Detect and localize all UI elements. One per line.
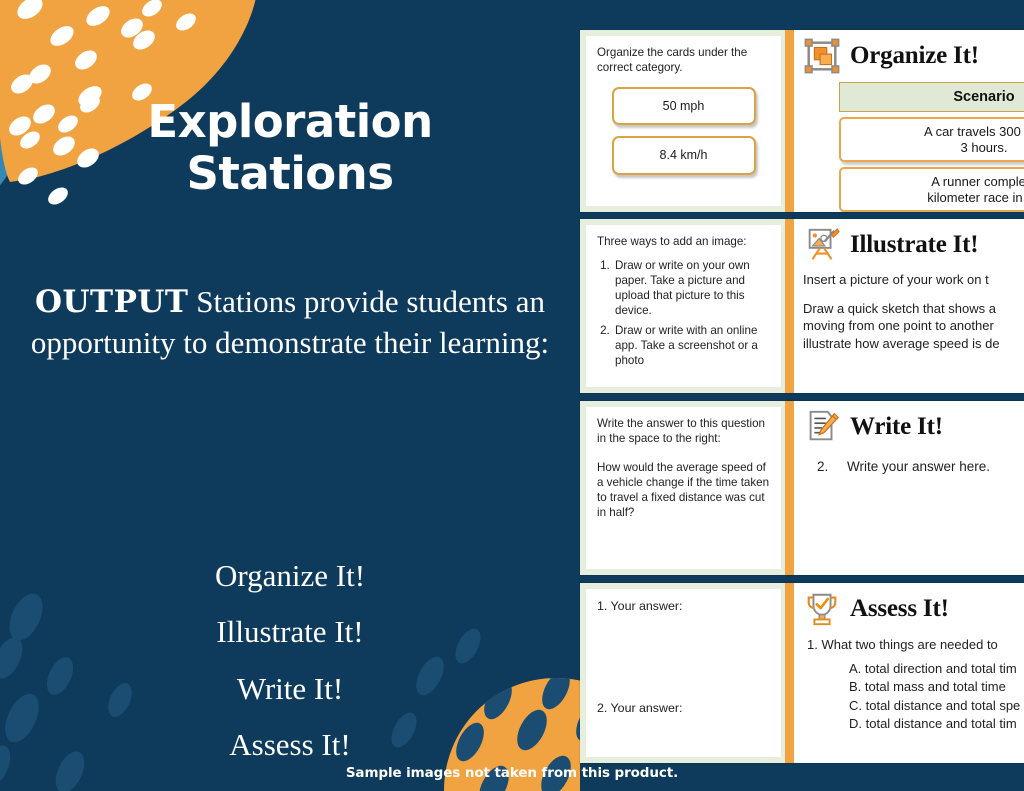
station-list: Organize It! Illustrate It! Write It! As… (20, 548, 560, 774)
card-assess-it[interactable]: 1. Your answer: 2. Your answer: Assess I… (580, 583, 1024, 763)
scenario-cell-2[interactable]: A runner completekilometer race in 25 (839, 167, 1024, 212)
card-organize-right-column: Organize It! Scenario A car travels 300 … (785, 30, 1024, 212)
illustrate-para-2: Draw a quick sketch that shows a moving … (803, 300, 1014, 353)
illustrate-para-1: Insert a picture of your work on t (803, 271, 1014, 289)
organize-chip-1[interactable]: 50 mph (612, 87, 756, 126)
trophy-check-icon (803, 590, 841, 628)
scenario-table: Scenario A car travels 300 kilo3 hours. … (839, 82, 1024, 212)
assess-answer-slot-2[interactable]: 2. Your answer: (597, 700, 770, 716)
write-answer-row[interactable]: 2.Write your answer here. (817, 459, 1014, 474)
station-item-illustrate: Illustrate It! (20, 604, 560, 660)
page-title: Exploration Stations (0, 96, 580, 200)
write-card-title: Write It! (850, 413, 943, 441)
card-write-it[interactable]: Write the answer to this question in the… (580, 401, 1024, 575)
card-assess-left-column: 1. Your answer: 2. Your answer: (580, 583, 785, 763)
assess-card-title: Assess It! (850, 595, 949, 623)
organize-left-prompt: Organize the cards under the correct cat… (597, 45, 770, 76)
card-illustrate-right-column: Illustrate It! Insert a picture of your … (785, 219, 1024, 393)
station-item-write: Write It! (20, 661, 560, 717)
left-hero-panel: Exploration Stations OUTPUT Stations pro… (0, 0, 580, 791)
illustrate-step-2: Draw or write with an online app. Take a… (613, 323, 770, 368)
write-left-prompt: Write the answer to this question in the… (597, 416, 770, 447)
body-emphasis: OUTPUT (35, 284, 189, 320)
assess-option-b[interactable]: B. total mass and total time (849, 678, 1014, 696)
card-organize-left-column: Organize the cards under the correct cat… (580, 30, 785, 212)
illustrate-step-list: Draw or write on your own paper. Take a … (613, 258, 770, 367)
body-paragraph: OUTPUT Stations provide students an oppo… (20, 282, 560, 364)
footnote-disclaimer: Sample images not taken from this produc… (0, 765, 1024, 781)
write-left-question: How would the average speed of a vehicle… (597, 460, 770, 521)
station-item-organize: Organize It! (20, 548, 560, 604)
card-assess-right-column: Assess It! 1. What two things are needed… (785, 583, 1024, 763)
illustrate-card-title: Illustrate It! (850, 231, 978, 259)
organize-squares-icon (803, 37, 841, 75)
assess-option-c[interactable]: C. total distance and total spe (849, 697, 1014, 715)
assess-answer-slot-1[interactable]: 1. Your answer: (597, 598, 770, 614)
write-answer-number: 2. (817, 459, 847, 474)
organize-chip-2[interactable]: 8.4 km/h (612, 136, 756, 175)
sample-slide-stack: Organize the cards under the correct cat… (580, 0, 1024, 791)
card-illustrate-left-column: Three ways to add an image: Draw or writ… (580, 219, 785, 393)
card-organize-it[interactable]: Organize the cards under the correct cat… (580, 30, 1024, 212)
illustrate-step-1: Draw or write on your own paper. Take a … (613, 258, 770, 318)
assess-option-list: A. total direction and total tim B. tota… (849, 660, 1014, 734)
card-illustrate-it[interactable]: Three ways to add an image: Draw or writ… (580, 219, 1024, 393)
illustrate-left-prompt: Three ways to add an image: (597, 234, 770, 249)
title-line-1: Exploration (0, 96, 580, 148)
document-pencil-icon (803, 408, 841, 446)
assess-question-stem: 1. What two things are needed to (807, 637, 1014, 652)
assess-option-a[interactable]: A. total direction and total tim (849, 660, 1014, 678)
card-write-right-column: Write It! 2.Write your answer here. (785, 401, 1024, 575)
scenario-cell-1[interactable]: A car travels 300 kilo3 hours. (839, 117, 1024, 162)
easel-paintbrush-icon (803, 226, 841, 264)
organize-card-title: Organize It! (850, 42, 979, 70)
scenario-table-header: Scenario (839, 82, 1024, 112)
title-line-2: Stations (0, 148, 580, 200)
card-write-left-column: Write the answer to this question in the… (580, 401, 785, 575)
assess-option-d[interactable]: D. total distance and total tim (849, 715, 1014, 733)
write-answer-text: Write your answer here. (847, 459, 990, 474)
